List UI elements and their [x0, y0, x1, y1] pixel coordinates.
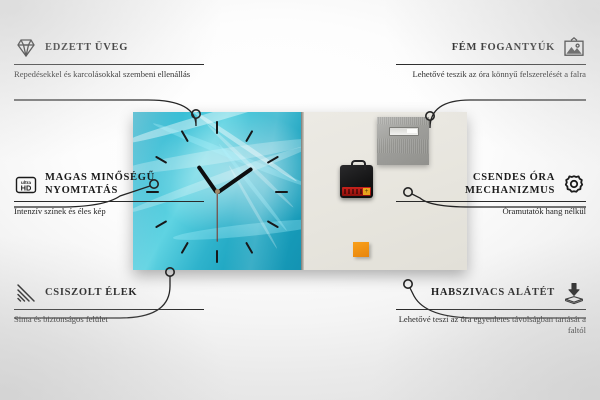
hour-marker: [245, 130, 253, 142]
hour-marker: [267, 220, 279, 228]
hour-marker: [155, 220, 167, 228]
callout-title: CSISZOLT ÉLEK: [45, 287, 137, 300]
foam-spacer-pad: [353, 242, 369, 257]
divider: [14, 309, 204, 310]
mechanism-loop: [351, 160, 366, 170]
hanger-slot: [389, 127, 419, 136]
callout-description: Lehetővé teszi az óra egyenletes távolsá…: [396, 314, 586, 335]
infographic-canvas: +: [0, 0, 600, 400]
panel-edge: [301, 112, 304, 270]
divider: [14, 64, 204, 65]
svg-text:HD: HD: [21, 183, 32, 192]
divider: [396, 309, 586, 310]
hour-marker: [275, 191, 288, 193]
callout-foam-pad: HABSZIVACS ALÁTÉT Lehetővé teszi az óra …: [396, 281, 586, 335]
callout-metal-handles: FÉM FOGANTYÚK Lehetővé teszik az óra kön…: [396, 36, 586, 80]
hour-marker: [245, 242, 253, 254]
callout-title: EDZETT ÜVEG: [45, 42, 128, 55]
callout-description: Óramutatók hang nélkül: [396, 206, 586, 217]
ultra-hd-icon: ultra HD: [14, 173, 38, 197]
metal-hanger-plate: [377, 117, 429, 165]
hour-marker: [267, 156, 279, 164]
callout-hd-print: ultra HD MAGAS MINŐSÉGŰ NYOMTATÁS Intenz…: [14, 172, 204, 217]
callout-description: Sima és biztonságos felület: [14, 314, 204, 325]
polished-edge-icon: [14, 281, 38, 305]
down-arrow-pad-icon: [562, 281, 586, 305]
divider: [14, 201, 204, 202]
battery-plus-icon: +: [363, 188, 370, 195]
callout-title: MAGAS MINŐSÉGŰ NYOMTATÁS: [45, 172, 204, 197]
hour-marker: [181, 242, 189, 254]
second-hand: [216, 192, 217, 242]
callout-title: CSENDES ÓRA MECHANIZMUS: [396, 172, 555, 197]
callout-title: FÉM FOGANTYÚK: [452, 42, 555, 55]
hour-marker: [155, 156, 167, 164]
diamond-icon: [14, 36, 38, 60]
clock-mechanism: +: [340, 165, 373, 198]
hand-center-cap: [215, 189, 220, 194]
hour-marker: [216, 250, 218, 263]
divider: [396, 64, 586, 65]
minute-hand: [216, 167, 254, 195]
callout-tempered-glass: EDZETT ÜVEG Repedésekkel és karcolásokka…: [14, 36, 204, 80]
callout-quiet-mechanism: CSENDES ÓRA MECHANIZMUS Óramutatók hang …: [396, 172, 586, 217]
callout-description: Lehetővé teszik az óra könnyű felszerelé…: [396, 69, 586, 80]
callout-title: HABSZIVACS ALÁTÉT: [431, 287, 555, 300]
callout-description: Intenzív színek és éles kép: [14, 206, 204, 217]
callout-polished-edges: CSISZOLT ÉLEK Sima és biztonságos felüle…: [14, 281, 204, 325]
callout-description: Repedésekkel és karcolásokkal szembeni e…: [14, 69, 204, 80]
gear-icon: [562, 173, 586, 197]
divider: [396, 201, 586, 202]
hour-marker: [216, 121, 218, 134]
hour-marker: [181, 130, 189, 142]
battery-label: +: [342, 187, 371, 196]
picture-hanger-icon: [562, 36, 586, 60]
